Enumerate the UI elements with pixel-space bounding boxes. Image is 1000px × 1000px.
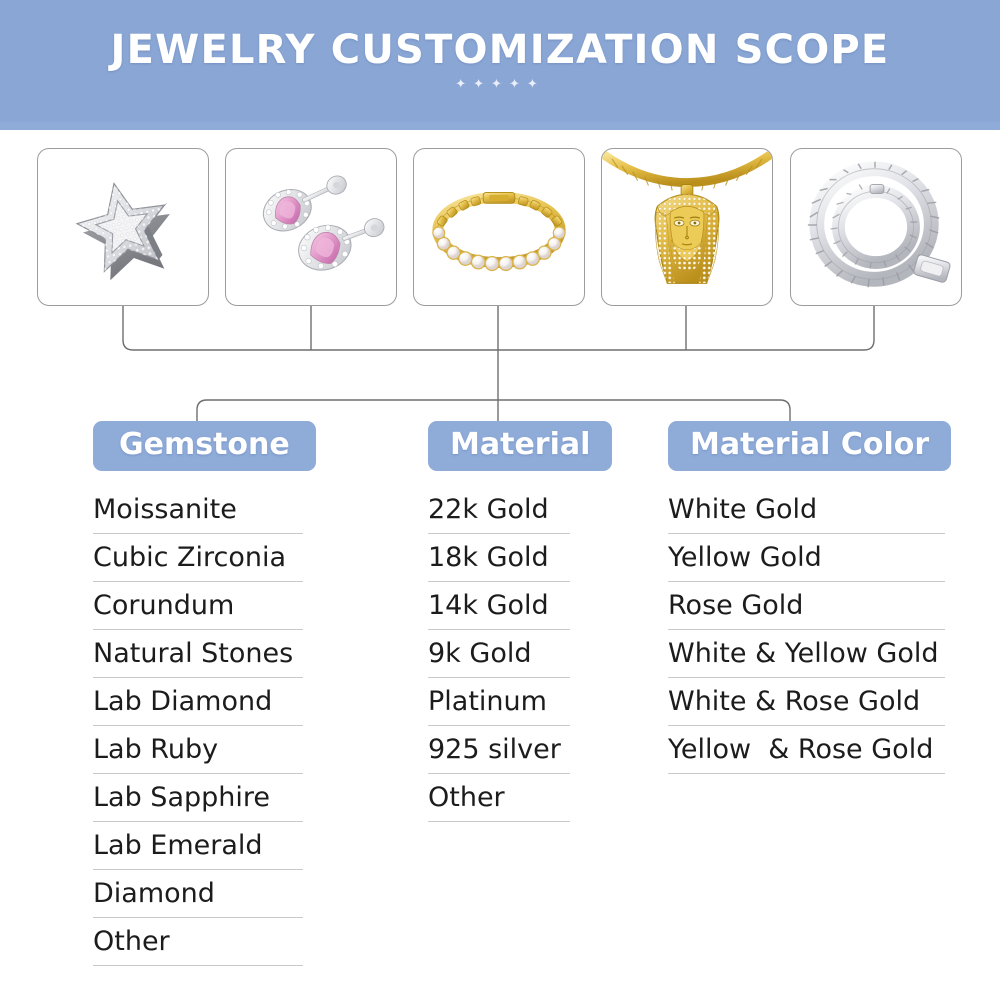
stud-earrings-image: [226, 149, 396, 305]
list-item[interactable]: Other: [428, 781, 570, 822]
list-item[interactable]: White & Rose Gold: [668, 685, 945, 726]
list-item[interactable]: 22k Gold: [428, 493, 570, 534]
cuban-chain-image: [791, 149, 961, 305]
product-card-stud-earrings[interactable]: [225, 148, 397, 306]
list-item[interactable]: Yellow Gold: [668, 541, 945, 582]
list-item[interactable]: Lab Emerald: [93, 829, 303, 870]
column-material-color: Material Color White Gold Yellow Gold Ro…: [668, 421, 951, 781]
list-item[interactable]: Lab Sapphire: [93, 781, 303, 822]
list-item[interactable]: Other: [93, 925, 303, 966]
list-item[interactable]: 925 silver: [428, 733, 570, 774]
list-item[interactable]: Rose Gold: [668, 589, 945, 630]
list-item[interactable]: Natural Stones: [93, 637, 303, 678]
column-header-material[interactable]: Material: [428, 421, 612, 471]
list-item[interactable]: White Gold: [668, 493, 945, 534]
product-card-tennis-bracelet[interactable]: [413, 148, 585, 306]
product-card-star-pendant[interactable]: [37, 148, 209, 306]
product-card-cuban-chain[interactable]: [790, 148, 962, 306]
list-item[interactable]: Platinum: [428, 685, 570, 726]
list-item[interactable]: Moissanite: [93, 493, 303, 534]
jesus-pendant-image: [602, 149, 772, 305]
material-color-list: White Gold Yellow Gold Rose Gold White &…: [668, 493, 945, 774]
material-list: 22k Gold 18k Gold 14k Gold 9k Gold Plati…: [428, 493, 570, 822]
list-item[interactable]: Cubic Zirconia: [93, 541, 303, 582]
list-item[interactable]: Yellow & Rose Gold: [668, 733, 945, 774]
list-item[interactable]: 14k Gold: [428, 589, 570, 630]
list-item[interactable]: Lab Ruby: [93, 733, 303, 774]
column-header-material-color[interactable]: Material Color: [668, 421, 951, 471]
column-gemstone: Gemstone Moissanite Cubic Zirconia Corun…: [93, 421, 316, 973]
list-item[interactable]: White & Yellow Gold: [668, 637, 945, 678]
list-item[interactable]: Diamond: [93, 877, 303, 918]
tennis-bracelet-image: [414, 149, 584, 305]
list-item[interactable]: Lab Diamond: [93, 685, 303, 726]
star-pendant-image: [38, 149, 208, 305]
gemstone-list: Moissanite Cubic Zirconia Corundum Natur…: [93, 493, 303, 966]
infographic-page: JEWELRY CUSTOMIZATION SCOPE ✦✦✦✦✦: [0, 0, 1000, 1000]
list-item[interactable]: 9k Gold: [428, 637, 570, 678]
list-item[interactable]: 18k Gold: [428, 541, 570, 582]
list-item[interactable]: Corundum: [93, 589, 303, 630]
column-material: Material 22k Gold 18k Gold 14k Gold 9k G…: [428, 421, 612, 829]
product-card-jesus-pendant[interactable]: [601, 148, 773, 306]
column-header-gemstone[interactable]: Gemstone: [93, 421, 316, 471]
